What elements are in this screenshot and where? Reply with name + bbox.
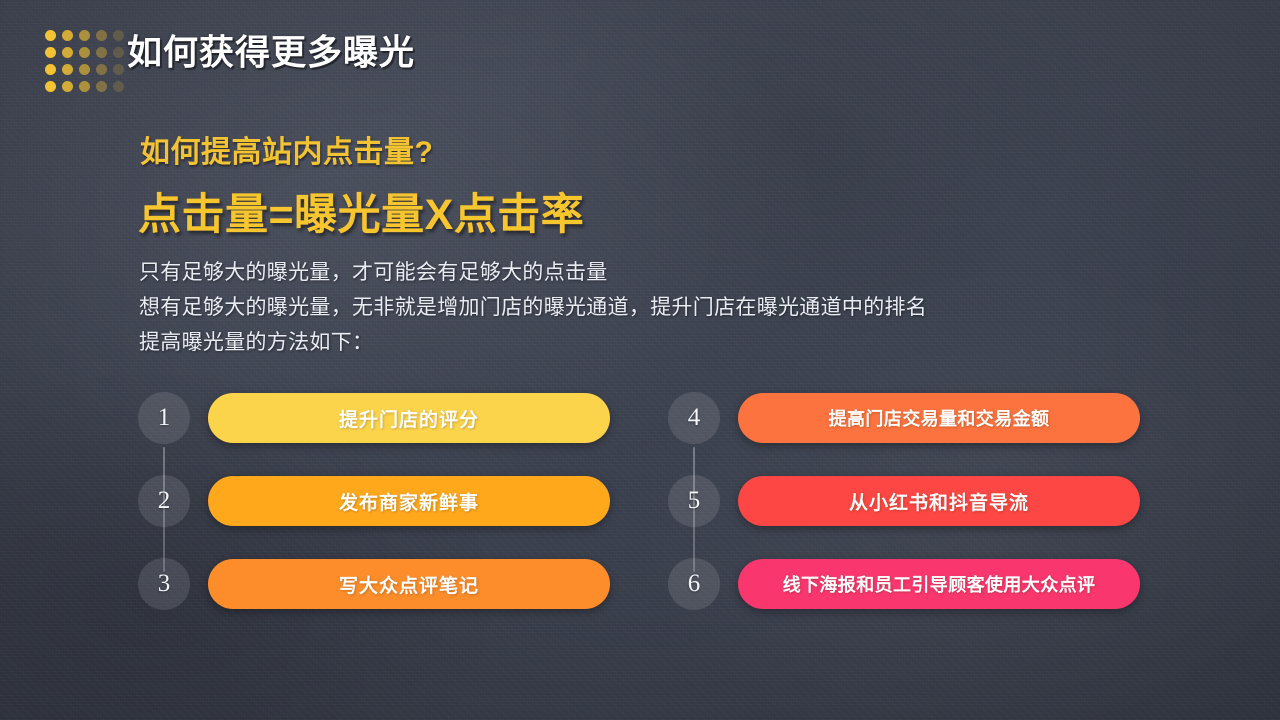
grid-dot	[62, 64, 73, 75]
step-number-badge: 4	[668, 392, 720, 444]
slide-header: 如何获得更多曝光	[0, 22, 1280, 84]
steps-column-left: 1 提升门店的评分 2 发布商家新鲜事 3 写大众点评笔记	[138, 392, 618, 627]
step-item[interactable]: 1 提升门店的评分	[138, 392, 618, 444]
step-pill-1[interactable]: 提升门店的评分	[208, 393, 610, 443]
body-line: 只有足够大的曝光量，才可能会有足够大的点击量	[139, 255, 1199, 290]
step-number-badge: 1	[138, 392, 190, 444]
grid-dot	[62, 30, 73, 41]
step-pill-2[interactable]: 发布商家新鲜事	[208, 476, 610, 526]
formula-heading: 点击量=曝光量X点击率	[138, 180, 584, 242]
step-number-badge: 5	[668, 475, 720, 527]
step-item[interactable]: 4 提高门店交易量和交易金额	[668, 392, 1148, 444]
grid-dot	[45, 64, 56, 75]
grid-dot	[113, 64, 124, 75]
grid-dot	[113, 81, 124, 92]
steps-section: 1 提升门店的评分 2 发布商家新鲜事 3 写大众点评笔记 4 提高门店交易量和…	[0, 392, 1280, 627]
grid-dot	[62, 47, 73, 58]
grid-dot	[79, 30, 90, 41]
steps-column-right: 4 提高门店交易量和交易金额 5 从小红书和抖音导流 6 线下海报和员工引导顾客…	[668, 392, 1148, 627]
grid-dot	[96, 30, 107, 41]
grid-dot	[45, 47, 56, 58]
step-pill-4[interactable]: 提高门店交易量和交易金额	[738, 393, 1140, 443]
grid-dot	[96, 47, 107, 58]
step-number-badge: 6	[668, 558, 720, 610]
step-number-badge: 2	[138, 475, 190, 527]
body-paragraph: 只有足够大的曝光量，才可能会有足够大的点击量 想有足够大的曝光量，无非就是增加门…	[139, 255, 1199, 360]
step-number-badge: 3	[138, 558, 190, 610]
step-item[interactable]: 5 从小红书和抖音导流	[668, 475, 1148, 527]
grid-dot	[45, 81, 56, 92]
slide-canvas: 如何获得更多曝光 如何提高站内点击量? 点击量=曝光量X点击率 只有足够大的曝光…	[0, 0, 1280, 720]
grid-dot	[96, 64, 107, 75]
dot-grid-decoration	[45, 30, 124, 92]
grid-dot	[45, 30, 56, 41]
grid-dot	[96, 81, 107, 92]
body-line: 提高曝光量的方法如下：	[139, 325, 1199, 360]
section-subheading: 如何提高站内点击量?	[140, 127, 433, 171]
grid-dot	[62, 81, 73, 92]
grid-dot	[79, 81, 90, 92]
grid-dot	[79, 47, 90, 58]
step-pill-3[interactable]: 写大众点评笔记	[208, 559, 610, 609]
grid-dot	[113, 47, 124, 58]
step-item[interactable]: 3 写大众点评笔记	[138, 558, 618, 610]
step-item[interactable]: 2 发布商家新鲜事	[138, 475, 618, 527]
grid-dot	[113, 30, 124, 41]
grid-dot	[79, 64, 90, 75]
step-pill-5[interactable]: 从小红书和抖音导流	[738, 476, 1140, 526]
page-title: 如何获得更多曝光	[127, 25, 415, 76]
step-item[interactable]: 6 线下海报和员工引导顾客使用大众点评	[668, 558, 1148, 610]
body-line: 想有足够大的曝光量，无非就是增加门店的曝光通道，提升门店在曝光通道中的排名	[139, 290, 1199, 325]
step-pill-6[interactable]: 线下海报和员工引导顾客使用大众点评	[738, 559, 1140, 609]
